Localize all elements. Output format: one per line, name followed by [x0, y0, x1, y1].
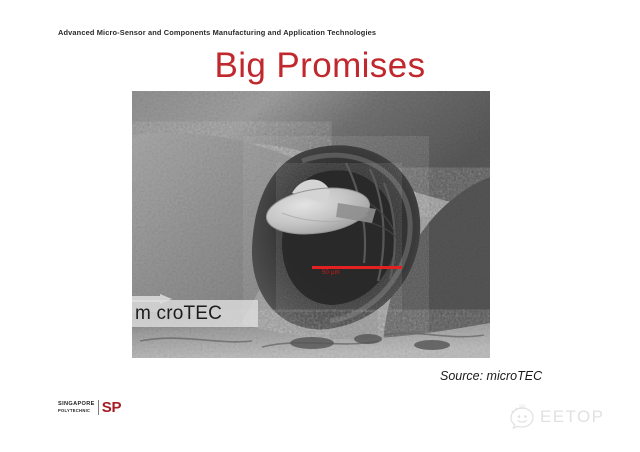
sp-logo-word-polytechnic: POLYTECHNIC	[58, 409, 95, 413]
sp-logo-word-singapore: SINGAPORE	[58, 402, 95, 408]
page-title: Big Promises	[0, 46, 640, 86]
scale-bar-annotation	[312, 266, 402, 269]
scale-bar-label: 50 µm	[322, 270, 340, 276]
source-caption: Source: microTEC	[440, 369, 542, 383]
eetop-brand-label: EETOP	[540, 407, 604, 427]
slide-header-text: Advanced Micro-Sensor and Components Man…	[58, 28, 376, 37]
sem-micrograph-figure: 50 µm m croTEC	[132, 91, 490, 358]
eetop-badge-count: 20	[518, 404, 526, 411]
microtec-watermark-label: m croTEC	[135, 303, 222, 324]
singapore-polytechnic-logo: SINGAPORE POLYTECHNIC SP	[58, 399, 121, 416]
sp-logo-initials: SP	[102, 400, 122, 415]
wechat-smiley-icon: 20	[508, 404, 538, 430]
eetop-watermark: 20 EETOP	[508, 404, 604, 430]
sp-logo-divider	[98, 400, 99, 415]
sp-logo-wordmark: SINGAPORE POLYTECHNIC	[58, 402, 98, 413]
